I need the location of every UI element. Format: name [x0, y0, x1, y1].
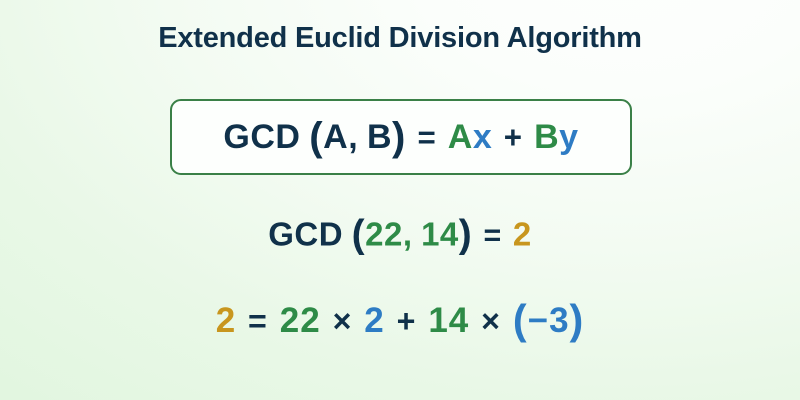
- identity-coefficient-x: 2: [364, 301, 384, 340]
- values-operand-b: 14: [421, 215, 459, 252]
- values-gcd-label: GCD: [268, 215, 343, 252]
- values-equals-sign: =: [483, 219, 501, 252]
- identity-open-paren: (: [513, 297, 528, 343]
- values-close-paren: ): [459, 213, 472, 256]
- slide-canvas: Extended Euclid Division Algorithm GCD(A…: [0, 0, 800, 400]
- values-open-paren: (: [352, 213, 365, 256]
- identity-equals-sign: =: [248, 303, 268, 339]
- gcd-values-line: GCD(22,14)=2: [0, 216, 800, 255]
- general-formula-expression: GCD(A,B)=Ax+By: [223, 117, 578, 157]
- identity-operand-a: 22: [280, 301, 321, 340]
- formula-variable-x: x: [473, 118, 492, 156]
- bezout-identity-line: 2=22×2+14×(−3): [0, 300, 800, 341]
- formula-comma: ,: [348, 118, 358, 156]
- identity-multiply-sign-1: ×: [333, 303, 353, 339]
- formula-open-paren: (: [309, 114, 323, 159]
- formula-coefficient-a: A: [448, 118, 473, 156]
- formula-close-paren: ): [392, 114, 406, 159]
- formula-variable-y: y: [559, 118, 578, 156]
- values-gcd-result: 2: [513, 215, 532, 252]
- formula-gcd-label: GCD: [223, 118, 300, 156]
- identity-coefficient-y: −3: [528, 301, 570, 340]
- values-comma: ,: [403, 215, 413, 252]
- identity-close-paren: ): [570, 297, 585, 343]
- identity-operand-b: 14: [428, 301, 469, 340]
- values-operand-a: 22: [365, 215, 403, 252]
- formula-equals-sign: =: [417, 120, 436, 155]
- identity-plus-sign: +: [397, 303, 417, 339]
- formula-plus-sign: +: [504, 120, 523, 155]
- formula-coefficient-b: B: [534, 118, 559, 156]
- identity-gcd-result: 2: [216, 301, 236, 340]
- general-formula-box: GCD(A,B)=Ax+By: [170, 99, 632, 175]
- page-title: Extended Euclid Division Algorithm: [0, 22, 800, 55]
- formula-operand-b: B: [367, 118, 392, 156]
- identity-multiply-sign-2: ×: [481, 303, 501, 339]
- formula-operand-a: A: [323, 118, 348, 156]
